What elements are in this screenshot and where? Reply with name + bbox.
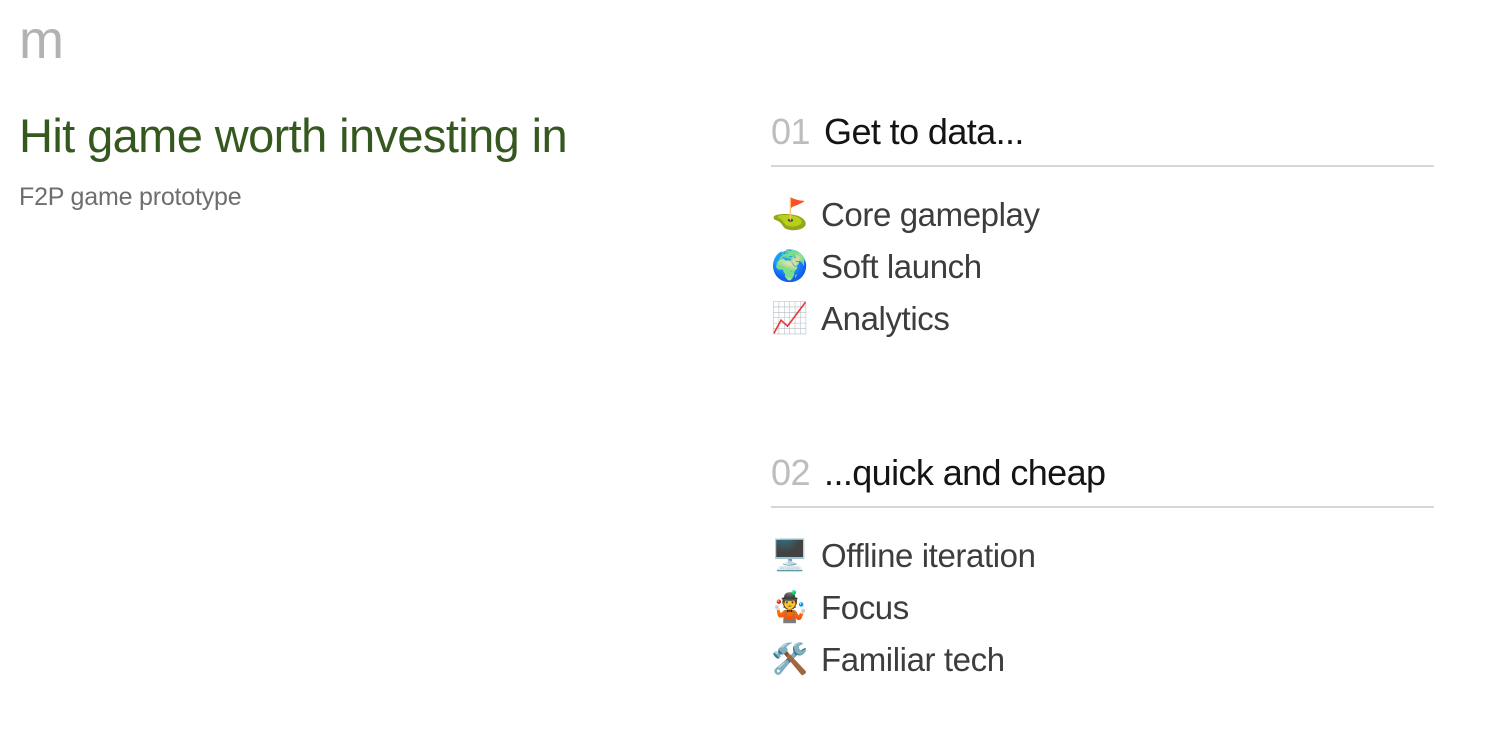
section-02-list: 🖥️ Offline iteration 🤹 Focus 🛠️ Familiar… — [771, 530, 1434, 686]
section-02-number: 02 — [771, 451, 810, 495]
list-item-label: Familiar tech — [821, 639, 1005, 681]
brand-logo: m — [19, 10, 63, 70]
list-item-label: Analytics — [821, 298, 949, 340]
right-column: 01 Get to data... ⛳ Core gameplay 🌍 Soft… — [771, 110, 1434, 686]
list-item-label: Focus — [821, 587, 909, 629]
list-item: 📈 Analytics — [771, 293, 1434, 345]
golf-flag-icon: ⛳ — [771, 196, 809, 234]
section-02-header: 02 ...quick and cheap — [771, 451, 1434, 508]
list-item: 🛠️ Familiar tech — [771, 634, 1434, 686]
globe-icon: 🌍 — [771, 248, 809, 286]
list-item: 🌍 Soft launch — [771, 241, 1434, 293]
list-item: ⛳ Core gameplay — [771, 189, 1434, 241]
list-item-label: Soft launch — [821, 246, 982, 288]
list-item-label: Core gameplay — [821, 194, 1040, 236]
slide-canvas: m Hit game worth investing in F2P game p… — [0, 0, 1507, 736]
list-item: 🤹 Focus — [771, 582, 1434, 634]
section-02-title: ...quick and cheap — [824, 451, 1105, 495]
section-01-list: ⛳ Core gameplay 🌍 Soft launch 📈 Analytic… — [771, 189, 1434, 345]
list-item: 🖥️ Offline iteration — [771, 530, 1434, 582]
section-01-header: 01 Get to data... — [771, 110, 1434, 167]
section-01-number: 01 — [771, 110, 810, 154]
section-02: 02 ...quick and cheap 🖥️ Offline iterati… — [771, 451, 1434, 686]
hammer-and-wrench-icon: 🛠️ — [771, 641, 809, 679]
section-01: 01 Get to data... ⛳ Core gameplay 🌍 Soft… — [771, 110, 1434, 345]
page-title: Hit game worth investing in — [19, 106, 719, 166]
list-item-label: Offline iteration — [821, 535, 1036, 577]
page-subtitle: F2P game prototype — [19, 180, 719, 214]
juggling-person-icon: 🤹 — [771, 589, 809, 627]
chart-increasing-icon: 📈 — [771, 300, 809, 338]
left-column: Hit game worth investing in F2P game pro… — [19, 106, 719, 214]
section-01-title: Get to data... — [824, 110, 1024, 154]
desktop-computer-icon: 🖥️ — [771, 537, 809, 575]
